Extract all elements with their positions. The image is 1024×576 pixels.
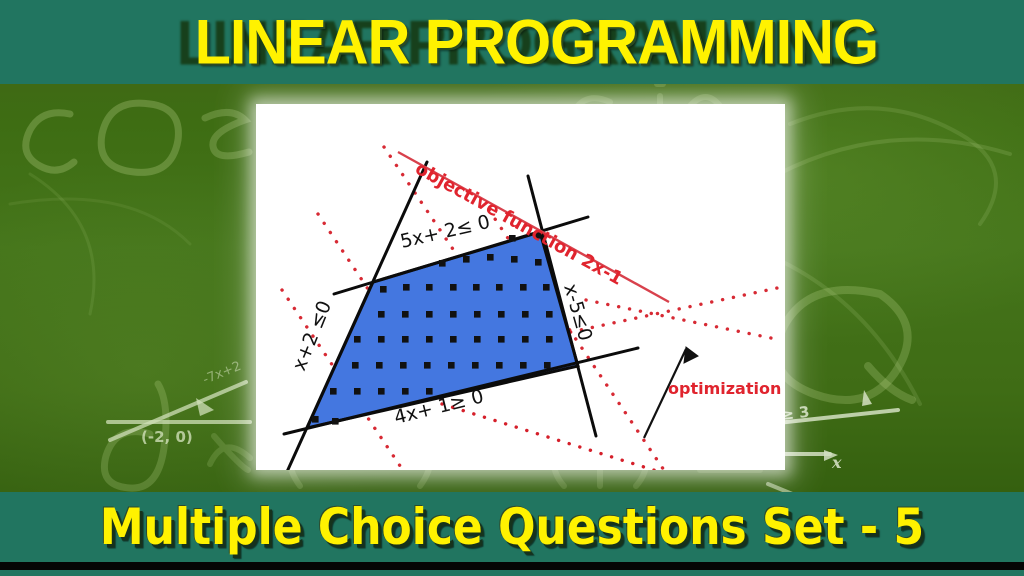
page-title-text: LINEAR PROGRAMMING [195, 5, 878, 78]
page-subtitle-text: Multiple Choice Questions Set - 5 [100, 498, 924, 556]
page-title: LINEAR PROGRAMMING LINEAR PROGRAMMING [0, 4, 1024, 82]
chalk-point-label: (-2, 0) [141, 428, 193, 446]
bottom-black-strip [0, 562, 1024, 570]
page-subtitle: Multiple Choice Questions Set - 5 [0, 492, 1024, 562]
diagram-panel: 5x+ 2≤ 0 x+2 ≤0 x-5≤0 4x+ 1≥ 0 objective… [256, 104, 785, 470]
slide-canvas: (-2, 0) -7x+2 ≥ 3 x [0, 0, 1024, 576]
linear-programming-diagram: 5x+ 2≤ 0 x+2 ≤0 x-5≤0 4x+ 1≥ 0 objective… [256, 104, 785, 470]
chalk-axis-label: x [831, 453, 842, 472]
label-optimization: optimization [668, 379, 781, 398]
chalk-line-eq: -7x+2 [201, 359, 244, 388]
